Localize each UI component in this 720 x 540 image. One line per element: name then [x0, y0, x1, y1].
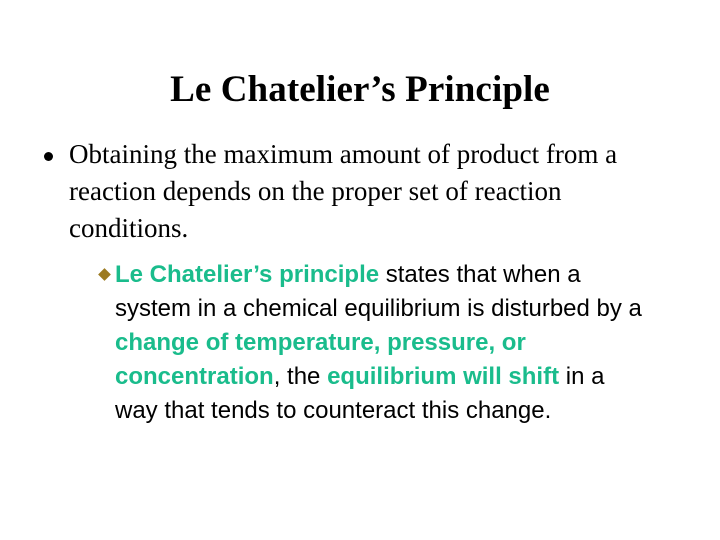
bullet-level2-text: Le Chatelier’s principle states that whe…	[115, 258, 645, 428]
bullet-dot-icon	[44, 152, 53, 161]
bullet-level1-text: Obtaining the maximum amount of product …	[69, 136, 668, 247]
presentation-slide: Le Chatelier’s Principle Obtaining the m…	[0, 0, 720, 540]
bullet-item-level1: Obtaining the maximum amount of product …	[44, 136, 668, 247]
highlighted-term: Le Chatelier’s principle	[115, 261, 379, 288]
bullet-diamond-icon	[98, 268, 111, 281]
highlighted-term: equilibrium will shift	[327, 363, 559, 390]
bullet-item-level2: Le Chatelier’s principle states that whe…	[100, 258, 645, 428]
body-text-run: , the	[274, 363, 327, 390]
page-title: Le Chatelier’s Principle	[0, 68, 720, 112]
